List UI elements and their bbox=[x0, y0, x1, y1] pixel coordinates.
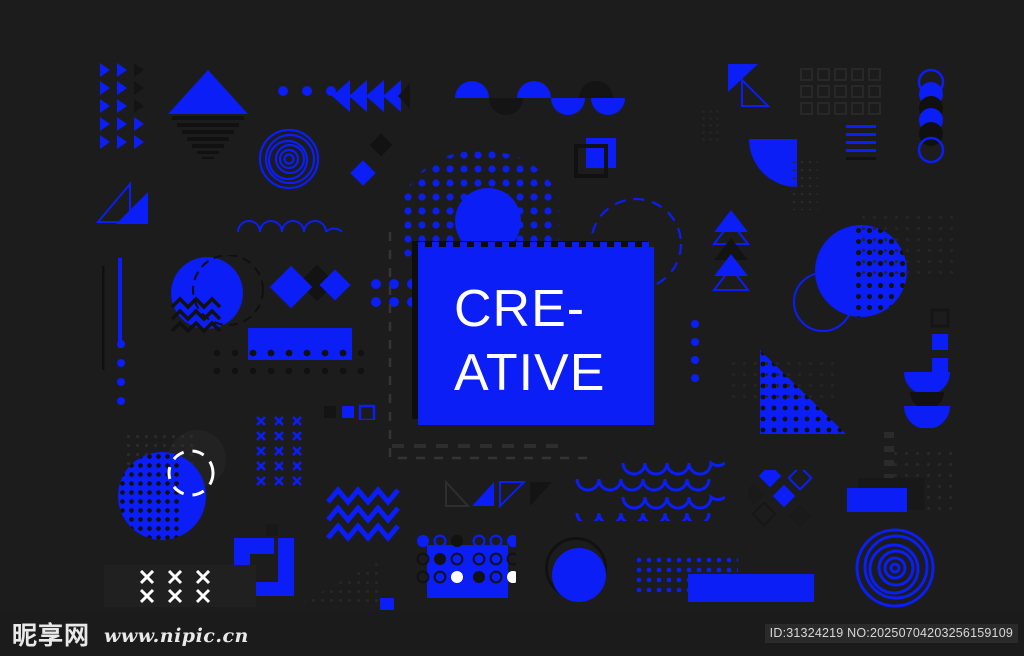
big-triangle-with-stripes bbox=[166, 66, 250, 162]
circle-solid-with-ring bbox=[552, 548, 606, 602]
wave-arc-line-left bbox=[236, 212, 344, 234]
x-mark-grid-white bbox=[140, 570, 216, 604]
small-diamond-rotated bbox=[348, 158, 378, 188]
spiral-rings bbox=[855, 528, 935, 608]
right-dot-column bbox=[688, 320, 702, 384]
circle-outline-overlap bbox=[793, 272, 853, 332]
left-dot-column bbox=[114, 340, 128, 410]
small-diamond-dark bbox=[366, 130, 396, 160]
half-moon-stack bbox=[902, 368, 952, 428]
hero-panel: CRE- ATIVE bbox=[418, 247, 654, 425]
half-circle-wave-row bbox=[455, 78, 625, 118]
dot-texture-right bbox=[858, 212, 954, 274]
zigzag-lines-blue bbox=[326, 486, 402, 544]
dot-texture-bottom-left bbox=[120, 576, 128, 584]
wave-lines-scallop bbox=[575, 455, 725, 521]
hero-top-teeth bbox=[418, 242, 654, 250]
outline-triangle-pair bbox=[96, 178, 152, 226]
watermark-logo: 昵享网 bbox=[12, 623, 90, 648]
nested-squares bbox=[574, 136, 620, 180]
x-mark-grid-blue bbox=[256, 416, 310, 494]
bottom-blue-bar bbox=[688, 574, 814, 602]
horizontal-line-stack bbox=[846, 125, 884, 163]
dot-texture-triangle-bottom bbox=[300, 560, 378, 604]
headline-line-1: CRE- bbox=[454, 277, 654, 341]
dot-texture-triangle-bg bbox=[728, 358, 838, 406]
left-chevron-arrows bbox=[332, 78, 412, 114]
dashed-line-bottom bbox=[392, 444, 566, 448]
blue-rect-front bbox=[847, 488, 907, 512]
dashed-tick-right bbox=[884, 432, 894, 478]
dashed-circle-white bbox=[166, 448, 216, 498]
quarter-circle-dot-texture bbox=[790, 158, 818, 210]
diamond-trio bbox=[268, 258, 352, 318]
poster-canvas: CRE- ATIVE bbox=[0, 0, 1024, 656]
triangle-stack-arrows bbox=[712, 210, 752, 300]
concentric-circles-scribble bbox=[258, 128, 320, 190]
page-title: CRE- ATIVE bbox=[454, 277, 654, 405]
dot-row-three bbox=[278, 84, 338, 96]
watermark-id: ID:31324219 NO:20250704203256159109 bbox=[765, 624, 1018, 643]
checker-square-grid bbox=[800, 68, 884, 118]
arrow-triangle-grid bbox=[100, 62, 148, 158]
watermark-footer: 昵享网www.nipic.cnID:31324219 NO:2025070420… bbox=[0, 610, 1024, 656]
stacked-circles-column bbox=[908, 68, 954, 178]
triangle-flag-outline bbox=[724, 62, 772, 110]
watermark-url: www.nipic.cn bbox=[104, 627, 249, 646]
dot-texture-topright bbox=[700, 108, 722, 142]
checker-dot-overlay bbox=[208, 344, 372, 384]
circle-dot-panel-marks bbox=[416, 534, 516, 588]
small-blue-rectangles bbox=[324, 404, 388, 420]
triangle-outline-row bbox=[444, 480, 554, 510]
tiny-dark-square-bottom bbox=[266, 524, 278, 536]
headline-line-2: ATIVE bbox=[454, 341, 654, 405]
diamond-cluster bbox=[748, 470, 830, 530]
